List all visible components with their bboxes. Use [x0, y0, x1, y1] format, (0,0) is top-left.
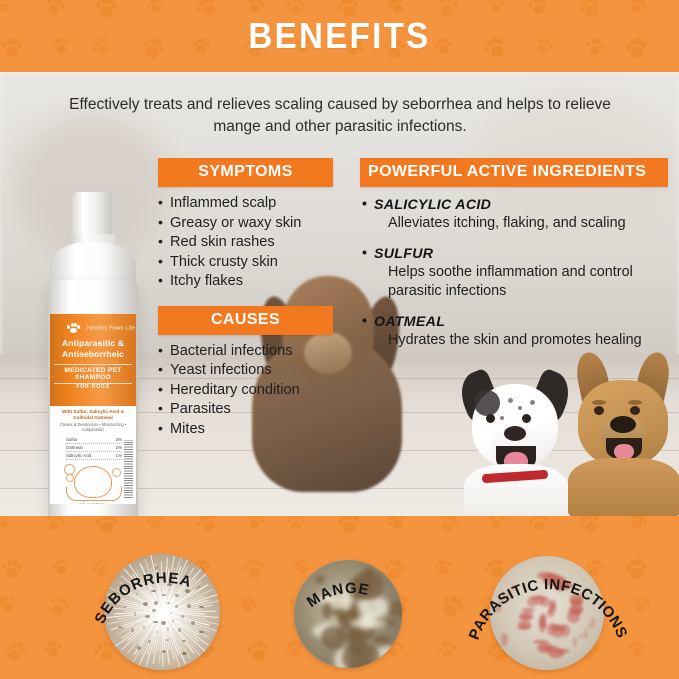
- condition-seborrhea: SEBORRHEA: [88, 532, 236, 679]
- dog-chest: [568, 458, 679, 516]
- page-title: BENEFITS: [27, 0, 652, 72]
- ingredient-item: OATMEALHydrates the skin and promotes he…: [360, 314, 668, 350]
- label-claim: With Sulfur, Salicylic Acid & Colloidal …: [52, 409, 134, 421]
- label-actives-table: Sulfur3%Oatmeal2%Salicylic Acid1%: [66, 436, 122, 460]
- list-item: Hereditary condition: [158, 381, 333, 401]
- dog-spotted: [456, 364, 576, 516]
- paw-print-icon: [245, 639, 269, 665]
- ingredients-heading: POWERFUL ACTIVE INGREDIENTS: [360, 158, 668, 187]
- mange-label: MANGE: [272, 526, 420, 676]
- list-item: Parasites: [158, 400, 333, 420]
- paw-print-icon: [2, 37, 22, 59]
- paw-print-icon: [43, 516, 66, 534]
- paw-print-icon: [433, 556, 453, 577]
- label-product-name: Antiparasitic & Antiseborrheic: [50, 338, 136, 360]
- bottle-cap: [72, 192, 112, 238]
- dog-nose: [610, 416, 636, 433]
- ingredient-name: SALICYLIC ACID: [360, 197, 668, 213]
- paw-print-icon: [4, 639, 27, 664]
- dog-eye-left: [486, 414, 495, 423]
- list-item: Inflammed scalp: [158, 194, 333, 214]
- product-bottle: Healthy Paws Life Antiparasitic & Antise…: [40, 192, 150, 516]
- causes-heading: CAUSES: [158, 306, 333, 335]
- svg-text:PARASITIC INFECTIONS: PARASITIC INFECTIONS: [466, 576, 631, 642]
- ingredient-item: SALICYLIC ACIDAlleviates itching, flakin…: [360, 197, 668, 233]
- left-column: SYMPTOMS Inflammed scalpGreasy or waxy s…: [158, 158, 333, 439]
- label-product-type: MEDICATED PET SHAMPOO: [54, 364, 132, 384]
- dog-eye-left: [594, 406, 604, 415]
- brand-logo: Healthy Paws Life: [50, 319, 136, 337]
- conditions-band: SEBORRHEA MANGE PARA: [0, 516, 679, 679]
- label-product-name-line1: Antiparasitic &: [50, 338, 136, 349]
- active-ingredient-row: Sulfur3%: [66, 436, 122, 444]
- list-item: Mites: [158, 420, 333, 440]
- header-banner: BENEFITS: [0, 0, 679, 72]
- product-infographic: BENEFITS Effectively treats and relieves…: [0, 0, 679, 679]
- symptoms-heading: SYMPTOMS: [158, 158, 333, 187]
- active-ingredient-row: Oatmeal2%: [66, 444, 122, 452]
- ingredient-description: Alleviates itching, flaking, and scaling: [360, 214, 668, 233]
- paw-print-icon: [0, 592, 18, 616]
- label-volume: 8 fl oz (236mL): [50, 502, 136, 504]
- dog-eye-right: [630, 406, 640, 415]
- paw-print-icon: [0, 0, 14, 16]
- paw-print-icon: [144, 516, 165, 532]
- paw-print-icon: [0, 516, 14, 532]
- paw-print-icon: [43, 639, 63, 660]
- paw-print-icon: [241, 556, 264, 581]
- brand-name: Healthy Paws Life: [87, 325, 135, 331]
- condition-parasitic: PARASITIC INFECTIONS: [452, 522, 638, 679]
- causes-list: Bacterial infectionsYeast infectionsHere…: [158, 342, 333, 440]
- foreground-dogs-photo: [436, 346, 679, 516]
- label-audience: FOR DOGS: [50, 384, 136, 390]
- list-item: Yeast infections: [158, 361, 333, 381]
- seborrhea-label: SEBORRHEA: [88, 532, 236, 679]
- dog-shepherd: [564, 352, 679, 516]
- list-item: Bacterial infections: [158, 342, 333, 362]
- paw-icon: [67, 322, 80, 333]
- list-item: Itchy flakes: [158, 272, 333, 292]
- ingredients-list: SALICYLIC ACIDAlleviates itching, flakin…: [360, 197, 668, 350]
- list-item: Thick crusty skin: [158, 253, 333, 273]
- label-subclaim: Cleans & Deodorizes • Moisturizing • Ant…: [52, 422, 134, 432]
- ingredient-description: Helps soothe inflammation and control pa…: [360, 263, 668, 301]
- paw-print-icon: [236, 592, 259, 616]
- main-content-area: Effectively treats and relieves scaling …: [0, 72, 679, 516]
- bottle-label: Healthy Paws Life Antiparasitic & Antise…: [50, 314, 136, 504]
- ingredient-name: SULFUR: [360, 246, 668, 262]
- svg-text:SEBORRHEA: SEBORRHEA: [91, 569, 194, 626]
- symptoms-list: Inflammed scalpGreasy or waxy skinRed sk…: [158, 194, 333, 292]
- svg-text:MANGE: MANGE: [304, 580, 371, 611]
- list-item: Greasy or waxy skin: [158, 214, 333, 234]
- active-ingredient-row: Salicylic Acid1%: [66, 452, 122, 460]
- bathtub-icon: [66, 486, 122, 501]
- ingredient-item: SULFURHelps soothe inflammation and cont…: [360, 246, 668, 301]
- right-column: POWERFUL ACTIVE INGREDIENTS SALICYLIC AC…: [360, 158, 668, 363]
- parasitic-label: PARASITIC INFECTIONS: [452, 522, 638, 679]
- subtitle-text: Effectively treats and relieves scaling …: [60, 94, 620, 138]
- label-product-name-line2: Antiseborrheic: [50, 349, 136, 360]
- label-illustration: [64, 464, 122, 502]
- barcode: [124, 440, 133, 498]
- list-item: Red skin rashes: [158, 233, 333, 253]
- paw-print-icon: [245, 516, 265, 531]
- dog-eye-patch: [474, 390, 500, 416]
- dog-nose: [504, 426, 526, 441]
- condition-mange: MANGE: [272, 526, 420, 676]
- paw-print-icon: [2, 557, 22, 579]
- dog-eye-right: [522, 414, 531, 423]
- paw-print-icon: [51, 556, 70, 576]
- paw-print-icon: [45, 592, 71, 619]
- ingredient-name: OATMEAL: [360, 314, 668, 330]
